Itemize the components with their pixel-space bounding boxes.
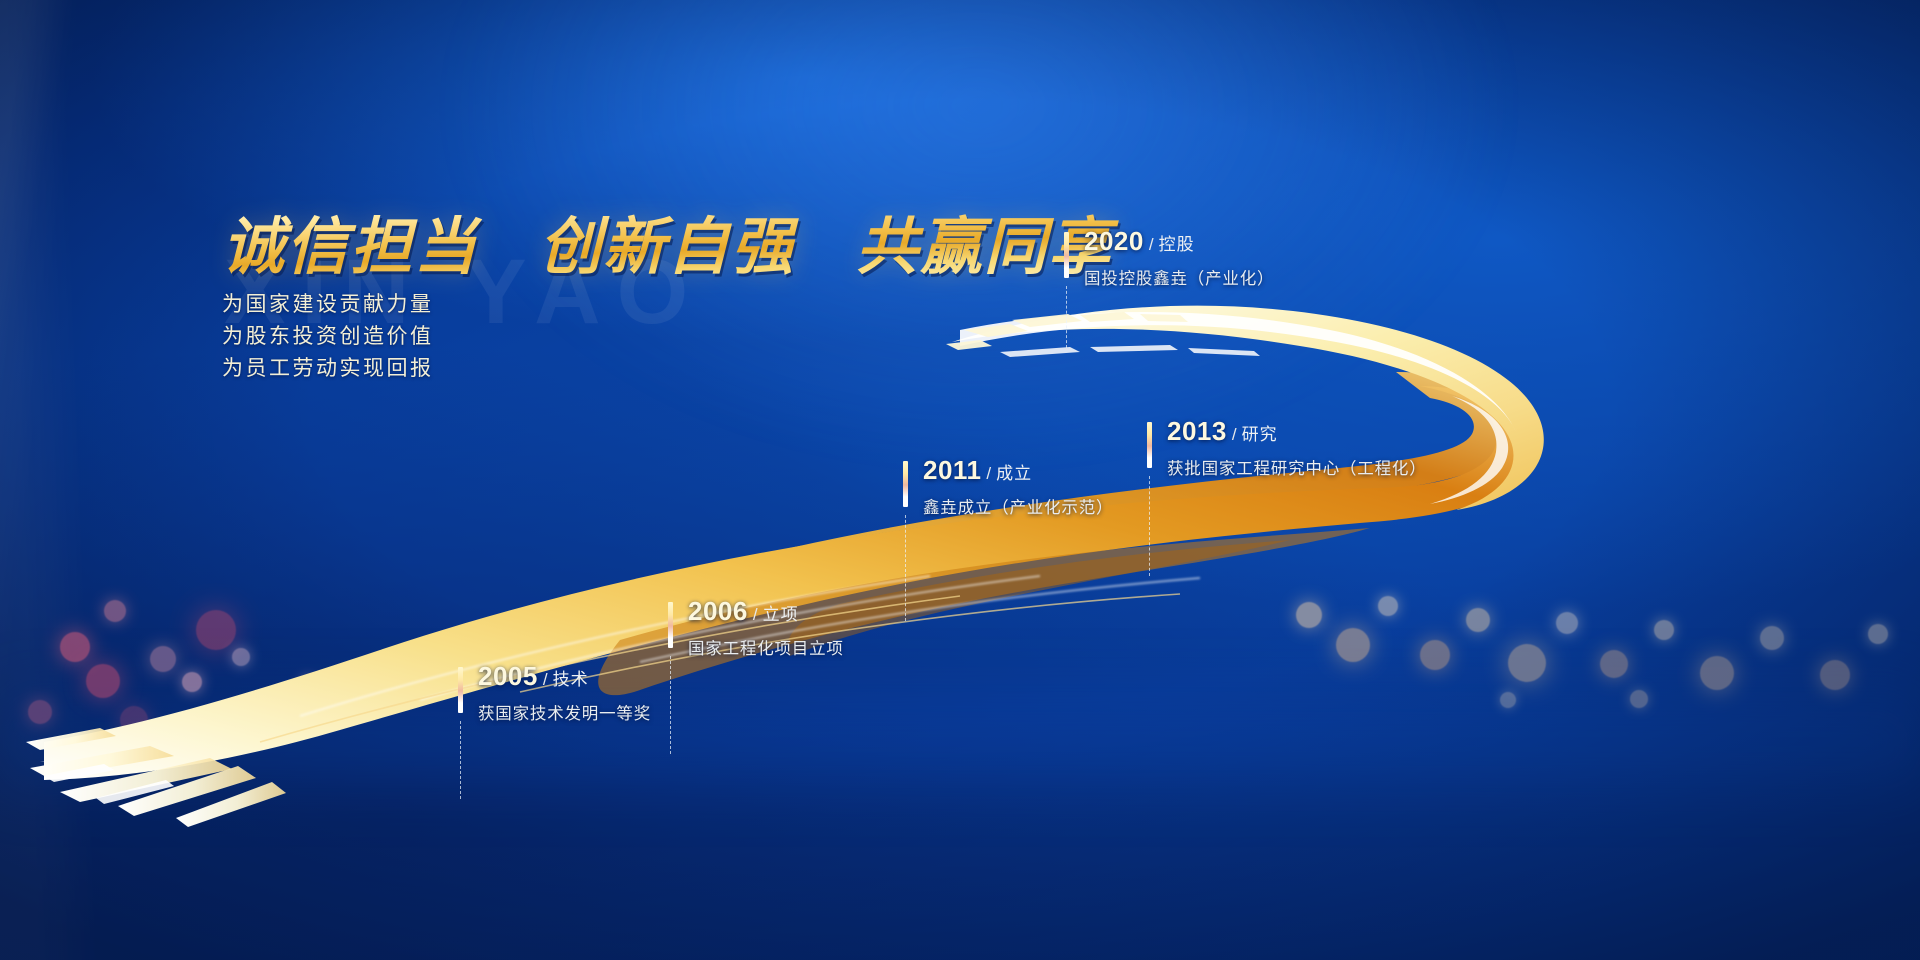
bokeh-dot	[1630, 690, 1648, 708]
subline-3: 为员工劳动实现回报	[222, 352, 1122, 382]
milestone-year: 2011	[923, 455, 981, 485]
bokeh-dot	[150, 646, 176, 672]
milestone-year: 2006	[688, 596, 748, 626]
bokeh-dot	[258, 700, 280, 722]
milestone-accent-bar	[668, 602, 673, 648]
headline-part-2: 创新自强	[539, 214, 795, 282]
milestone-description: 获批国家工程研究中心（工程化）	[1167, 455, 1427, 479]
subline-2: 为股东投资创造价值	[222, 320, 1122, 350]
milestone-stem-line	[905, 515, 906, 621]
timeline-milestone[interactable]: 2020/控股国投控股鑫垚（产业化）	[1064, 228, 1274, 289]
milestone-separator: /	[986, 464, 991, 483]
milestone-year: 2013	[1167, 416, 1227, 446]
milestone-separator: /	[1149, 235, 1154, 254]
milestone-tag: 控股	[1159, 235, 1195, 254]
bokeh-dot	[1500, 692, 1516, 708]
milestone-accent-bar	[1064, 232, 1069, 278]
milestone-description: 国家工程化项目立项	[688, 635, 844, 659]
milestone-stem-line	[460, 721, 461, 799]
milestone-heading: 2005/技术	[478, 663, 651, 689]
bokeh-dot	[1700, 656, 1734, 690]
bokeh-dot	[1420, 640, 1450, 670]
milestone-tag: 技术	[553, 670, 589, 689]
bokeh-dot	[1820, 660, 1850, 690]
headline-part-1: 诚信担当	[222, 214, 478, 282]
bokeh-dot	[1296, 602, 1322, 628]
bokeh-dot	[60, 632, 90, 662]
bokeh-dot	[196, 610, 236, 650]
bokeh-dot	[28, 700, 52, 724]
milestone-text: 2006/立项国家工程化项目立项	[668, 598, 844, 659]
milestone-stem-line	[670, 656, 671, 754]
timeline-milestone[interactable]: 2006/立项国家工程化项目立项	[668, 598, 844, 659]
milestone-text: 2020/控股国投控股鑫垚（产业化）	[1064, 228, 1274, 289]
milestone-text: 2005/技术获国家技术发明一等奖	[458, 663, 651, 724]
milestone-heading: 2011/成立	[923, 457, 1113, 483]
milestone-tag: 研究	[1242, 425, 1278, 444]
bokeh-dot	[120, 706, 148, 734]
milestone-heading: 2013/研究	[1167, 418, 1427, 444]
milestone-separator: /	[1232, 425, 1237, 444]
milestone-stem-line	[1066, 286, 1067, 348]
subline-1: 为国家建设贡献力量	[222, 288, 1122, 318]
milestone-heading: 2020/控股	[1084, 228, 1274, 254]
bokeh-dot	[86, 664, 120, 698]
milestone-heading: 2006/立项	[688, 598, 844, 624]
milestone-accent-bar	[903, 461, 908, 507]
bokeh-dot	[1378, 596, 1398, 616]
milestone-separator: /	[543, 670, 548, 689]
milestone-tag: 成立	[996, 464, 1032, 483]
bokeh-dot	[104, 600, 126, 622]
bokeh-dot	[300, 676, 316, 692]
headline-block: XIN YAO 诚信担当 创新自强 共赢同享 为国家建设贡献力量 为股东投资创造…	[222, 196, 1122, 382]
milestone-stem-line	[1149, 476, 1150, 576]
bokeh-dot	[1600, 650, 1628, 678]
milestone-text: 2013/研究获批国家工程研究中心（工程化）	[1147, 418, 1427, 479]
bokeh-dot	[1508, 644, 1546, 682]
bokeh-dot	[1556, 612, 1578, 634]
bokeh-dot	[182, 672, 202, 692]
timeline-milestone[interactable]: 2013/研究获批国家工程研究中心（工程化）	[1147, 418, 1427, 479]
milestone-description: 国投控股鑫垚（产业化）	[1084, 265, 1274, 289]
timeline-milestone[interactable]: 2005/技术获国家技术发明一等奖	[458, 663, 651, 724]
milestone-text: 2011/成立鑫垚成立（产业化示范）	[903, 457, 1113, 518]
page-title: 诚信担当 创新自强 共赢同享	[222, 196, 1122, 286]
timeline-milestone[interactable]: 2011/成立鑫垚成立（产业化示范）	[903, 457, 1113, 518]
milestone-accent-bar	[458, 667, 463, 713]
bokeh-dot	[1868, 624, 1888, 644]
milestone-year: 2005	[478, 661, 538, 691]
milestone-accent-bar	[1147, 422, 1152, 468]
bokeh-dot	[1466, 608, 1490, 632]
milestone-description: 鑫垚成立（产业化示范）	[923, 494, 1113, 518]
milestone-separator: /	[753, 605, 758, 624]
bokeh-dot	[1654, 620, 1674, 640]
milestone-description: 获国家技术发明一等奖	[478, 700, 651, 724]
bokeh-dot	[232, 648, 250, 666]
bokeh-dot	[1336, 628, 1370, 662]
bokeh-dot	[1760, 626, 1784, 650]
milestone-year: 2020	[1084, 226, 1144, 256]
banner-stage: XIN YAO 诚信担当 创新自强 共赢同享 为国家建设贡献力量 为股东投资创造…	[0, 0, 1920, 960]
milestone-tag: 立项	[763, 605, 799, 624]
